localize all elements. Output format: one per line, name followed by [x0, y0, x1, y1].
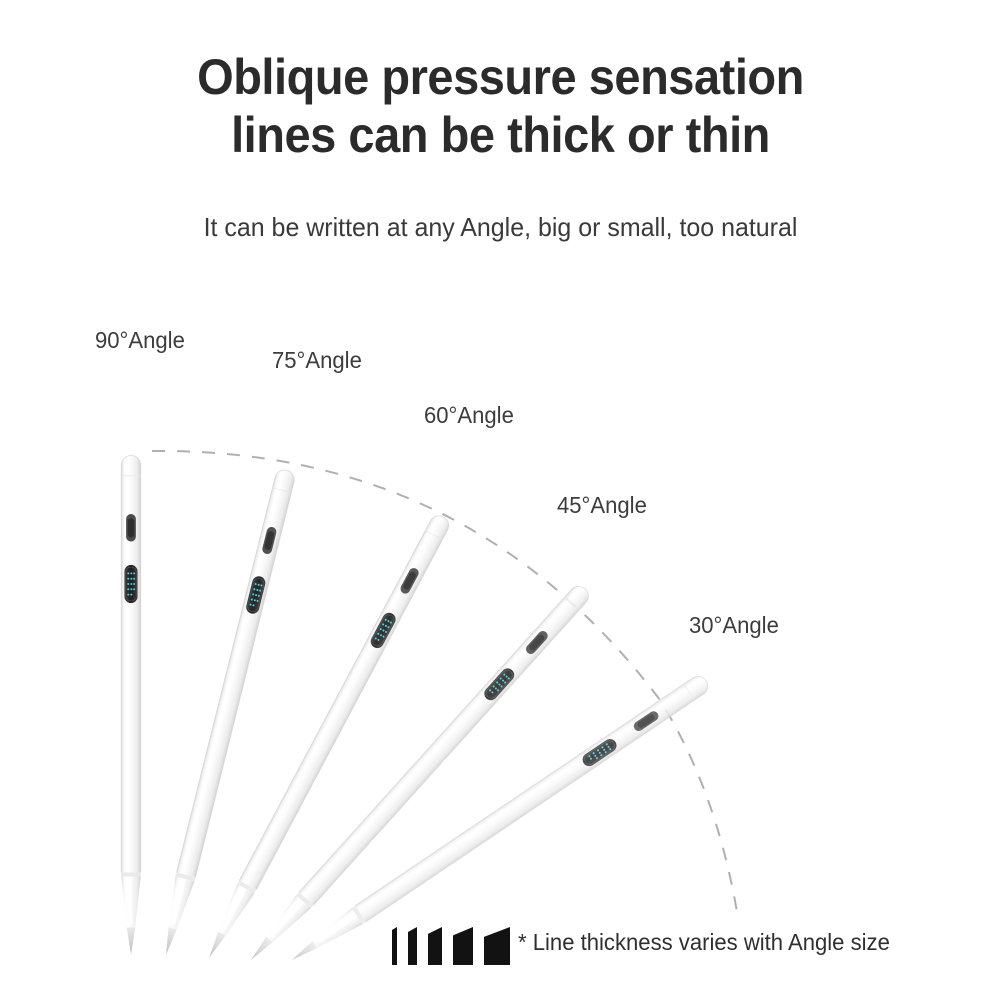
- stroke-mark-1: [392, 927, 397, 965]
- angle-label-30: 30°Angle: [689, 612, 779, 638]
- angle-label-45: 45°Angle: [557, 492, 647, 518]
- stroke-mark-4: [453, 927, 473, 965]
- legend-caption: * Line thickness varies with Angle size: [518, 928, 890, 956]
- angle-label-90: 90°Angle: [95, 327, 185, 353]
- line-thickness-legend: * Line thickness varies with Angle size: [392, 916, 905, 968]
- stroke-thickness-marks: [392, 919, 510, 965]
- stylus-75: [157, 468, 297, 957]
- stroke-mark-3: [428, 927, 442, 965]
- stroke-mark-5: [484, 927, 510, 965]
- stroke-mark-2: [408, 927, 417, 965]
- stylus-90: [121, 456, 141, 955]
- angle-label-60: 60°Angle: [424, 402, 514, 428]
- stylus-60: [200, 512, 452, 962]
- angle-label-75: 75°Angle: [272, 347, 362, 373]
- product-infographic: Oblique pressure sensation lines can be …: [0, 0, 1001, 1001]
- stylus-angle-diagram: [0, 0, 1001, 1001]
